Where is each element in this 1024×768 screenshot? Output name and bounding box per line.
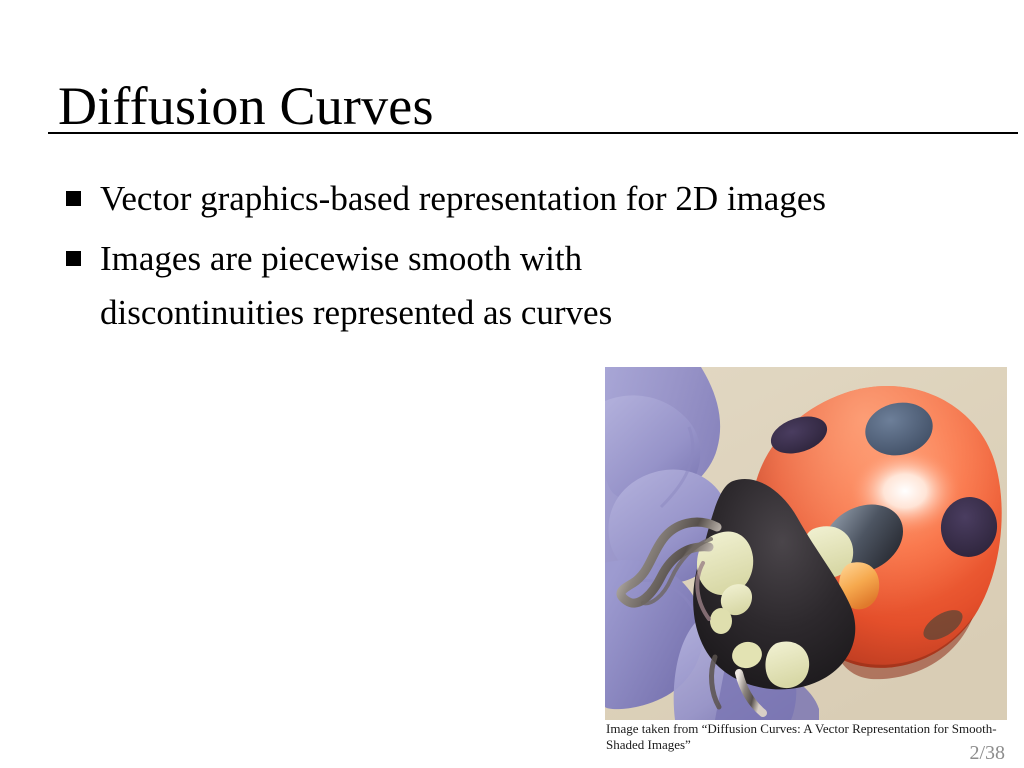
bullet-list: Vector graphics-based representation for… [62,172,942,346]
square-bullet-icon [66,191,81,206]
title-divider [48,132,1018,134]
page-number: 2/38 [900,742,1005,765]
list-item: Vector graphics-based representation for… [62,172,942,226]
list-item: Images are piecewise smooth with discont… [62,232,942,340]
square-bullet-icon [66,251,81,266]
page-title: Diffusion Curves [58,74,434,138]
head-cream-spot [710,608,732,634]
ladybug-illustration [605,367,1007,720]
list-item-label: Images are piecewise smooth with discont… [100,232,620,340]
figure-container [605,367,1007,720]
list-item-label: Vector graphics-based representation for… [100,172,942,226]
head-cream-spot [765,641,809,688]
